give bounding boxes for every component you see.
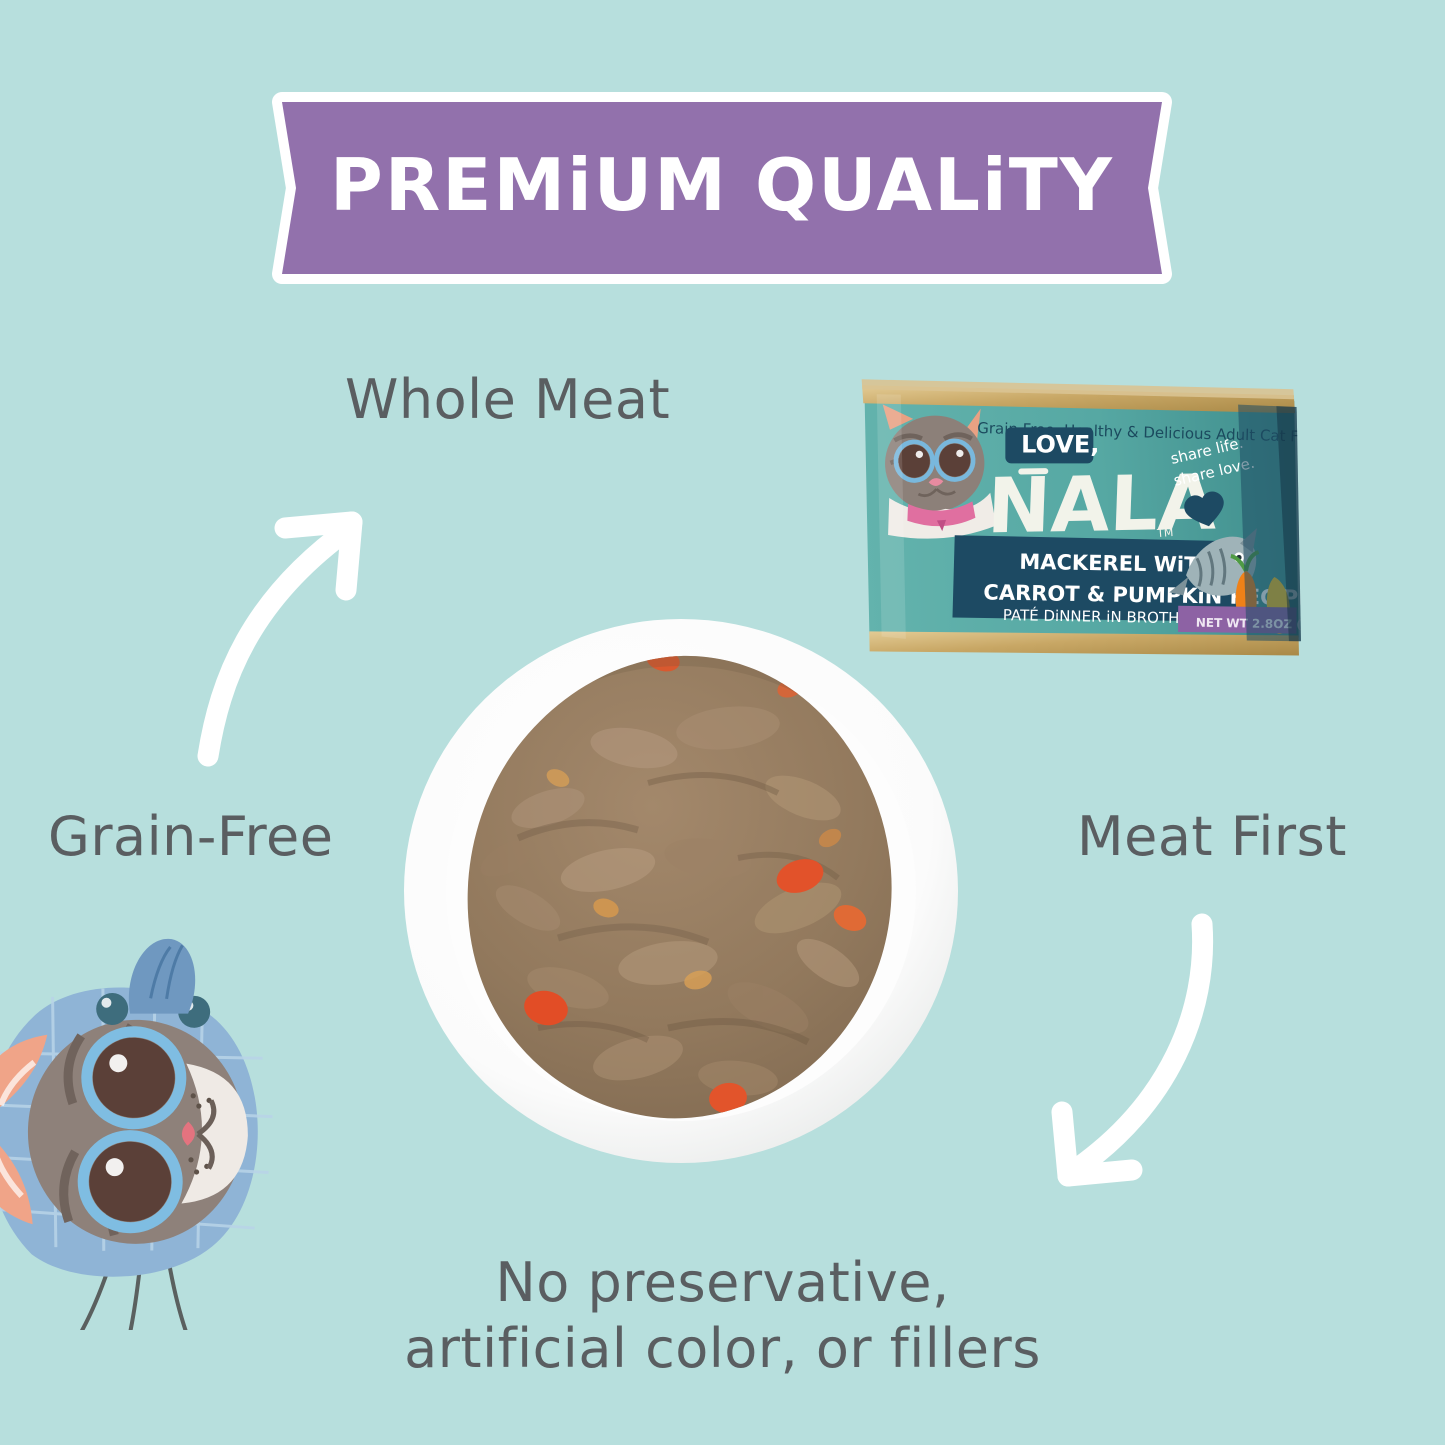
nala-cat-mascot	[0, 930, 320, 1330]
cat-hood-tip	[128, 938, 196, 1016]
can-flavor-line-3: PATÉ DiNNER iN BROTH	[1003, 605, 1180, 627]
can-love-text: LOVE,	[1021, 430, 1099, 458]
feature-label-whole-meat: Whole Meat	[345, 368, 670, 431]
feature-label-meat-first: Meat First	[1077, 805, 1347, 868]
infographic-canvas: PREMiUM QUALiTY Whole Meat Grain-Free Me…	[0, 0, 1445, 1445]
can-trademark: TM	[1156, 526, 1174, 540]
product-can: Grain Free, Healthy & Delicious Adult Ca…	[846, 330, 1326, 710]
premium-quality-banner: PREMiUM QUALiTY	[268, 88, 1176, 288]
arrow-down-left-icon	[1010, 900, 1250, 1200]
can-flavor-line-1: MACKEREL WiTH	[1019, 550, 1216, 577]
banner-title: PREMiUM QUALiTY	[268, 88, 1176, 288]
feature-label-grain-free: Grain-Free	[48, 805, 333, 868]
arrow-up-right-icon	[180, 470, 400, 770]
